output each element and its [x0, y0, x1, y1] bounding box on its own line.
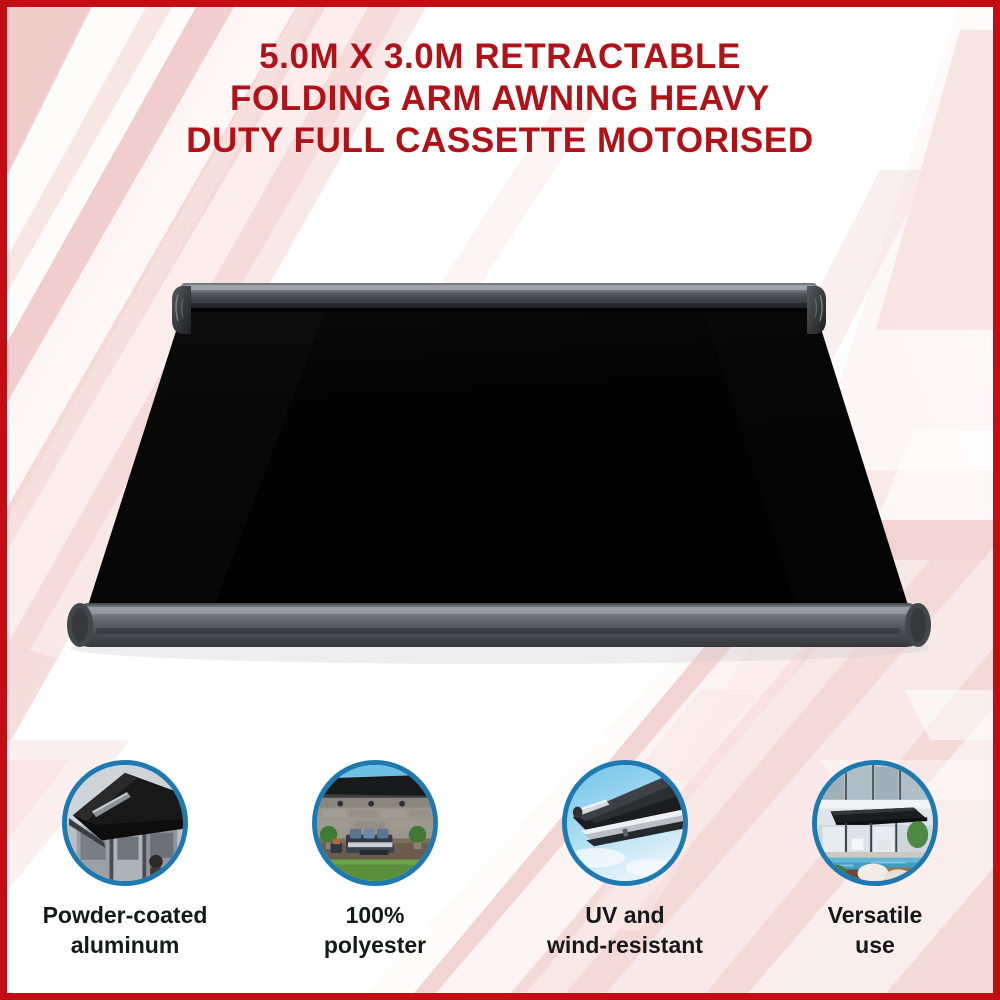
feature-item-polyester-fabric: 100% polyester [250, 760, 500, 960]
poster-title: 5.0M X 3.0M RETRACTABLE FOLDING ARM AWNI… [0, 36, 1000, 162]
feature-label-versatile-use: Versatile use [828, 900, 923, 960]
modern-house-pool-photo-icon [812, 760, 938, 886]
awning-underside-sky-photo-icon [562, 760, 688, 886]
title-line-3: DUTY FULL CASSETTE MOTORISED [0, 120, 1000, 162]
feature-item-versatile-use: Versatile use [750, 760, 1000, 960]
product-poster: 5.0M X 3.0M RETRACTABLE FOLDING ARM AWNI… [0, 0, 1000, 1000]
feature-label-powder-coated-aluminum: Powder-coated aluminum [43, 900, 208, 960]
awning-closeup-photo-icon [62, 760, 188, 886]
feature-label-uv-wind-resistant: UV and wind-resistant [547, 900, 703, 960]
feature-list: Powder-coated aluminum [0, 760, 1000, 960]
title-line-1: 5.0M X 3.0M RETRACTABLE [0, 36, 1000, 78]
patio-lounge-photo-icon [312, 760, 438, 886]
title-line-2: FOLDING ARM AWNING HEAVY [0, 78, 1000, 120]
feature-item-uv-wind-resistant: UV and wind-resistant [500, 760, 750, 960]
feature-label-polyester-fabric: 100% polyester [324, 900, 426, 960]
feature-item-powder-coated-aluminum: Powder-coated aluminum [0, 760, 250, 960]
